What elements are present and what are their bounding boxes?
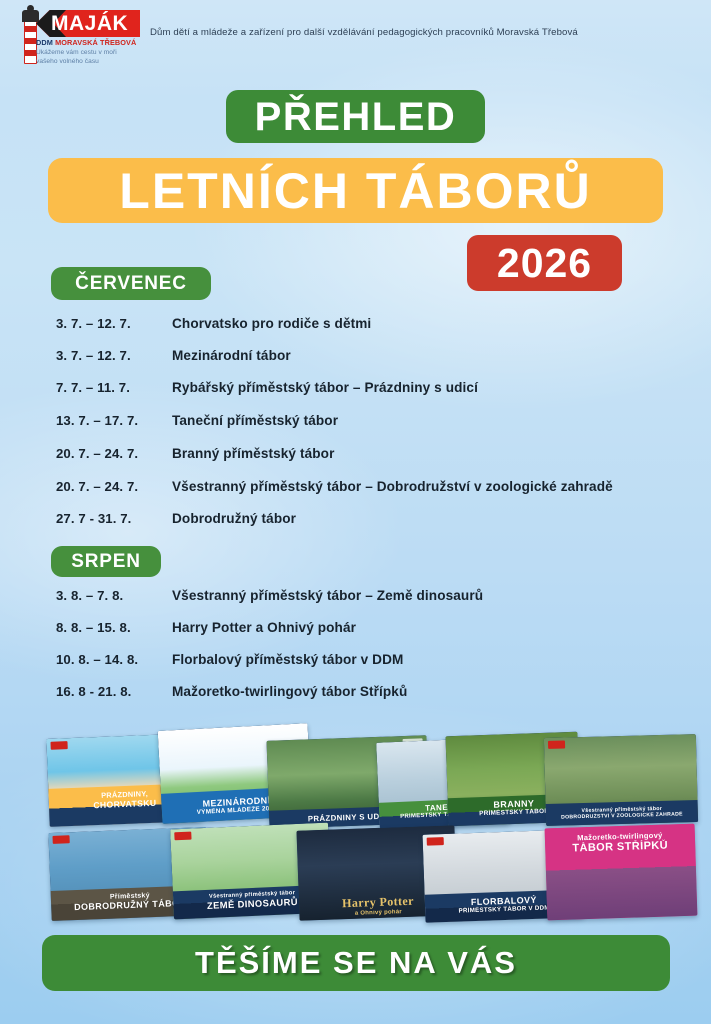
majak-logo: MAJÁK DDM MORAVSKÁ TŘEBOVÁ Ukážeme vám c… [10,6,140,68]
poster-root: MAJÁK DDM MORAVSKÁ TŘEBOVÁ Ukážeme vám c… [0,0,711,1024]
month-label-cervenec: ČERVENEC [75,274,187,294]
title-badge-year: 2026 [467,235,622,291]
camp-title: Všestranný příměstský tábor – Země dinos… [172,588,483,603]
camp-title: Mažoretko-twirlingový tábor Střípků [172,684,407,699]
month-label-srpen: SRPEN [71,552,140,572]
logo-org-ddm: DDM [36,38,53,47]
camp-title: Chorvatsko pro rodiče s dětmi [172,316,371,331]
collage-card-band: Mažoretko-twirlingový TÁBOR STŘÍPKŮ [545,824,698,921]
camp-title: Mezinárodní tábor [172,348,291,363]
camp-title: Všestranný příměstský tábor – Dobrodružs… [172,479,613,494]
logo-org-city: MORAVSKÁ TŘEBOVÁ [55,38,136,47]
collage-card[interactable]: Mažoretko-twirlingový TÁBOR STŘÍPKŮ [545,824,698,921]
title-badge-letnich-taboru: LETNÍCH TÁBORŮ [48,158,663,223]
camp-row: 3. 7. – 12. 7. Chorvatsko pro rodiče s d… [56,316,706,337]
camp-date: 20. 7. – 24. 7. [56,479,172,494]
camp-date: 16. 8 - 21. 8. [56,684,172,699]
footer-banner: TĚŠÍME SE NA VÁS [42,935,670,991]
camp-row: 20. 7. – 24. 7. Branný příměstský tábor [56,446,706,467]
collage-card-line2: CHORVATSKU [93,797,157,809]
logo-org-line: DDM MORAVSKÁ TŘEBOVÁ [36,38,136,47]
camp-row: 3. 7. – 12. 7. Mezinárodní tábor [56,348,706,369]
camp-row: 7. 7. – 11. 7. Rybářský příměstský tábor… [56,380,706,401]
title-badge-prehled: PŘEHLED [226,90,485,143]
logo-wordmark: MAJÁK [51,11,139,36]
camp-row: 20. 7. – 24. 7. Všestranný příměstský tá… [56,479,706,500]
organization-subtitle: Dům dětí a mládeže a zařízení pro další … [150,27,578,38]
camp-date: 20. 7. – 24. 7. [56,446,172,461]
collage-card-line2: DOBRODRUŽNÝ TÁBOR [74,897,187,911]
camp-title: Rybářský příměstský tábor – Prázdniny s … [172,380,478,395]
camp-date: 10. 8. – 14. 8. [56,652,172,667]
camp-date: 27. 7 - 31. 7. [56,511,172,526]
collage-card-line1: Harry Potter [342,893,414,910]
camp-row: 16. 8 - 21. 8. Mažoretko-twirlingový táb… [56,684,706,705]
camp-row: 27. 7 - 31. 7. Dobrodružný tábor [56,511,706,532]
header-bar: MAJÁK DDM MORAVSKÁ TŘEBOVÁ Ukážeme vám c… [0,0,711,70]
title-text-prehled: PŘEHLED [255,97,457,137]
camp-date: 3. 8. – 7. 8. [56,588,172,603]
collage-card-band: Všestranný příměstský tábor DOBRODRUŽSTV… [546,800,699,826]
camp-row: 8. 8. – 15. 8. Harry Potter a Ohnivý poh… [56,620,706,641]
collage-card-line2: TÁBOR STŘÍPKŮ [572,840,668,855]
collage-card[interactable]: Všestranný příměstský tábor DOBRODRUŽSTV… [544,734,698,826]
month-badge-srpen: SRPEN [51,546,161,577]
camp-title: Florbalový příměstský tábor v DDM [172,652,403,667]
collage-card-line2: DOBRODRUŽSTVÍ V ZOOLOGICKÉ ZAHRADĚ [561,811,683,820]
poster-collage: PRÁZDNINY, CHORVATSKU MEZINÁRODNÍ VÝMĚNA… [0,716,711,928]
camp-row: 10. 8. – 14. 8. Florbalový příměstský tá… [56,652,706,673]
camp-row: 13. 7. – 17. 7. Taneční příměstský tábor [56,413,706,434]
camp-title: Branný příměstský tábor [172,446,334,461]
collage-card-line2: a Ohnivý pohár [355,909,402,917]
camp-date: 13. 7. – 17. 7. [56,413,172,428]
camp-date: 3. 7. – 12. 7. [56,348,172,363]
camp-date: 8. 8. – 15. 8. [56,620,172,635]
camp-title: Dobrodružný tábor [172,511,296,526]
camp-date: 3. 7. – 12. 7. [56,316,172,331]
month-badge-cervenec: ČERVENEC [51,267,211,300]
collage-card-line2: PŘÍMĚSTSKÝ TÁBOR [479,808,549,817]
footer-text: TĚŠÍME SE NA VÁS [195,947,517,979]
camp-title: Taneční příměstský tábor [172,413,338,428]
title-text-letnich-taboru: LETNÍCH TÁBORŮ [119,165,591,217]
camp-row: 3. 8. – 7. 8. Všestranný příměstský tábo… [56,588,706,609]
logo-tagline: Ukážeme vám cestu v moři vašeho volného … [36,48,140,66]
camp-title: Harry Potter a Ohnivý pohár [172,620,356,635]
camp-date: 7. 7. – 11. 7. [56,380,172,395]
title-text-year: 2026 [497,242,592,284]
